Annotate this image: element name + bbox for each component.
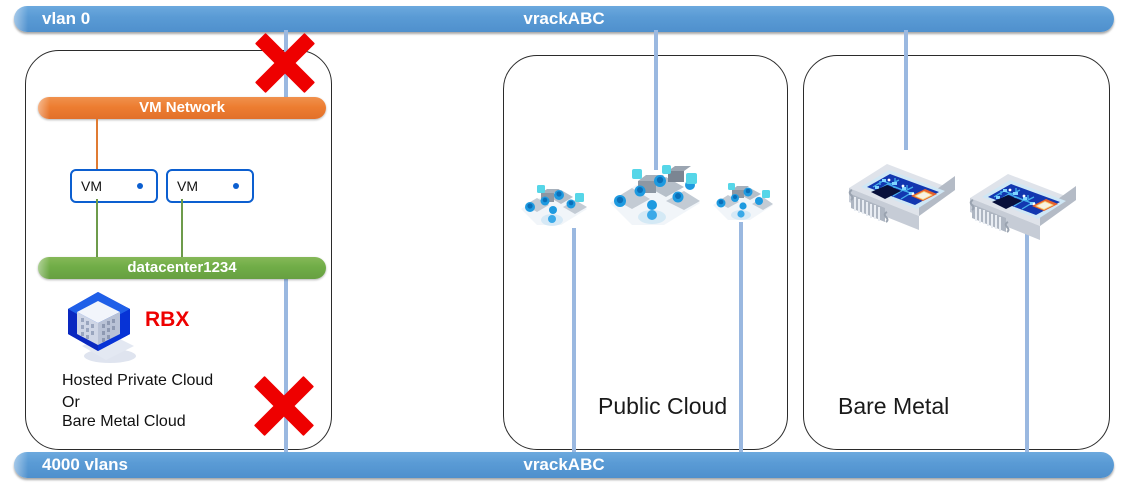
site-label-rbx: RBX	[145, 308, 189, 332]
cloud-cluster-icon	[708, 174, 778, 226]
vm-box-1[interactable]: VM	[70, 169, 158, 203]
red-x-icon-bottom	[249, 371, 319, 441]
connector-publiccloud-left-to-bottom	[572, 228, 576, 452]
connector-vm1-to-datacenter	[96, 199, 98, 261]
pill-datacenter[interactable]: datacenter1234	[38, 257, 326, 279]
pill-vm-network-label: VM Network	[139, 99, 225, 116]
panel-public-cloud-label: Public Cloud	[598, 393, 727, 420]
panel-public-cloud	[503, 55, 788, 450]
diagram-canvas: vlan 0 vrackABC Public Cloud Bare Metal …	[0, 0, 1128, 485]
connector-publiccloud-right-to-bottom	[739, 222, 743, 452]
vm-status-dot-icon	[233, 183, 239, 189]
red-x-icon-top	[250, 28, 320, 98]
vm-box-2[interactable]: VM	[166, 169, 254, 203]
connector-baremetal-left-to-top	[904, 30, 908, 150]
bottom-vlan-bar: 4000 vlans vrackABC	[14, 452, 1114, 478]
vm-status-dot-icon	[137, 183, 143, 189]
server-board-icon	[845, 142, 965, 230]
connector-vm2-to-datacenter	[181, 199, 183, 261]
caption-line-1: Hosted Private Cloud	[62, 370, 213, 391]
caption-line-3: Bare Metal Cloud	[62, 411, 186, 432]
bottom-bar-center-label: vrackABC	[14, 455, 1114, 475]
pill-vm-network[interactable]: VM Network	[38, 97, 326, 119]
connector-publiccloud-center-to-top	[654, 30, 658, 170]
server-board-icon	[966, 152, 1086, 245]
connector-vmnetwork-to-vm1	[96, 119, 98, 169]
cloud-cluster-icon	[602, 157, 708, 233]
vm-box-1-label: VM	[81, 178, 102, 194]
connector-baremetal-right-to-bottom	[1025, 230, 1029, 452]
panel-bare-metal-label: Bare Metal	[838, 393, 949, 420]
cloud-cluster-icon	[515, 175, 593, 231]
caption-line-2: Or	[62, 392, 80, 413]
pill-datacenter-label: datacenter1234	[127, 259, 236, 276]
top-bar-center-label: vrackABC	[14, 9, 1114, 29]
datacenter-cube-icon	[62, 288, 140, 366]
panel-bare-metal	[803, 55, 1110, 450]
top-vlan-bar: vlan 0 vrackABC	[14, 6, 1114, 32]
vm-box-2-label: VM	[177, 178, 198, 194]
